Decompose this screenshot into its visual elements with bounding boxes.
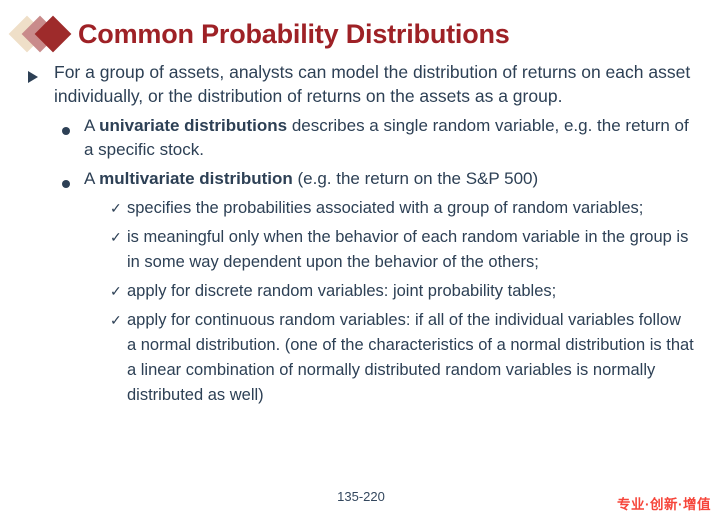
text-prefix: A [84,169,99,188]
brand-tagline: 专业·创新·增值 [617,493,711,513]
bullet-item-univariate: A univariate distributions describes a s… [0,114,722,162]
bullet-item-multivariate: A multivariate distribution (e.g. the re… [0,167,722,191]
check-bullet-icon: ✓ [110,308,127,333]
bullet-item-level1: For a group of assets, analysts can mode… [0,60,722,108]
bullet-text: apply for continuous random variables: i… [127,308,694,408]
text-emphasis: univariate distributions [99,116,287,135]
slide-body: For a group of assets, analysts can mode… [0,60,722,412]
dot-bullet-icon [62,167,84,191]
text-prefix: A [84,116,99,135]
check-bullet-icon: ✓ [110,279,127,304]
bullet-text: is meaningful only when the behavior of … [127,225,694,275]
bullet-item-level3: ✓ specifies the probabilities associated… [0,196,722,221]
bullet-text: apply for discrete random variables: joi… [127,279,694,304]
bullet-text: specifies the probabilities associated w… [127,196,694,221]
bullet-item-level3: ✓ is meaningful only when the behavior o… [0,225,722,275]
bullet-text: A univariate distributions describes a s… [84,114,696,162]
check-bullet-icon: ✓ [110,196,127,221]
three-diamonds-icon [14,14,72,54]
check-bullet-icon: ✓ [110,225,127,250]
bullet-item-level3: ✓ apply for continuous random variables:… [0,308,722,408]
page-number: 135-220 [0,489,722,504]
bullet-item-level3: ✓ apply for discrete random variables: j… [0,279,722,304]
slide-root: Common Probability Distributions For a g… [0,0,722,518]
bullet-text: A multivariate distribution (e.g. the re… [84,167,696,191]
arrow-bullet-icon [28,60,54,85]
bullet-text: For a group of assets, analysts can mode… [54,60,700,108]
text-suffix: (e.g. the return on the S&P 500) [293,169,538,188]
text-emphasis: multivariate distribution [99,169,293,188]
slide-header: Common Probability Distributions [14,12,510,56]
page-title: Common Probability Distributions [78,21,510,48]
dot-bullet-icon [62,114,84,138]
